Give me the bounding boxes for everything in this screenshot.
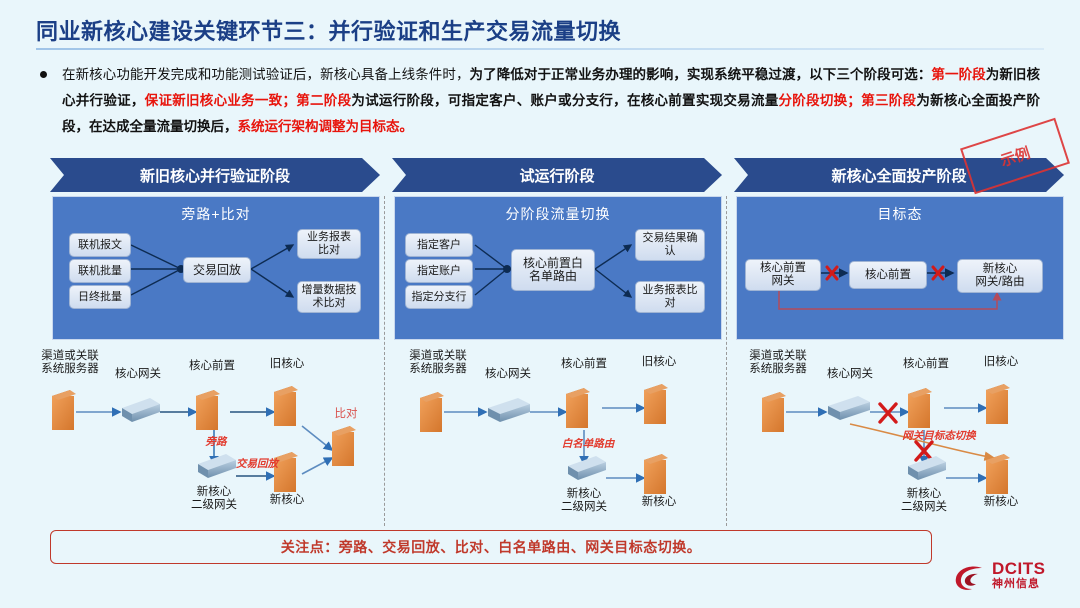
flow1-input-2[interactable]: 联机批量 xyxy=(69,259,131,283)
flow-panel-3: 目标态 核心前置 网关 核心前置 新核心 网关/路由 xyxy=(736,196,1064,340)
topo1-label-source: 渠道或关联 系统服务器 xyxy=(30,350,110,376)
bullet-seg-red-phase2: 第二阶段 xyxy=(296,93,351,108)
topo2-label-oldcore: 旧核心 xyxy=(628,356,690,369)
logo-main: DCITS xyxy=(992,560,1046,578)
topo3-edge-gateway-switch: 网关目标态切换 xyxy=(884,430,994,443)
footnote-box: 关注点：旁路、交易回放、比对、白名单路由、网关目标态切换。 xyxy=(50,530,932,564)
flow1-output-1[interactable]: 业务报表 比对 xyxy=(297,229,361,259)
flow-panel-3-title: 目标态 xyxy=(737,197,1063,224)
topo3-label-oldcore: 旧核心 xyxy=(970,356,1032,369)
topology-1: 渠道或关联 系统服务器 核心网关 核心前置 旧核心 新核心 二级网关 新核心 比… xyxy=(24,346,380,528)
topo2-label-newgw: 新核心 二级网关 xyxy=(544,488,624,514)
flow-panel-1: 旁路+比对 联机报文 联机批量 日终批量 交易回放 业务报表 比对 增量数据技 … xyxy=(52,196,380,340)
flow1-input-3[interactable]: 日终批量 xyxy=(69,285,131,309)
title-divider xyxy=(36,48,1044,50)
bullet-seg-red-consistency: 保证新旧核心业务一致； xyxy=(145,93,296,108)
flow-panel-2: 分阶段流量切换 指定客户 指定账户 指定分支行 核心前置白 名单路由 交易结果确… xyxy=(394,196,722,340)
topo2-label-front: 核心前置 xyxy=(548,358,620,371)
topo1-edge-bypass: 旁路 xyxy=(196,436,236,449)
phase-banner-1[interactable]: 新旧核心并行验证阶段 xyxy=(50,158,380,192)
bullet-seg-bold: 为了降低对于正常业务办理的影响，实现系统平稳过渡，以下三个阶段可选： xyxy=(470,67,932,82)
flow-panel-1-title: 旁路+比对 xyxy=(53,197,379,224)
topo3-label-newgw: 新核心 二级网关 xyxy=(884,488,964,514)
bullet-dot-icon xyxy=(40,71,47,78)
panel-separator-2 xyxy=(726,196,727,526)
company-logo: DCITS 神州信息 xyxy=(952,558,1072,602)
topo3-label-newcore: 新核心 xyxy=(970,496,1032,509)
topology-2: 渠道或关联 系统服务器 核心网关 核心前置 旧核心 新核心 二级网关 新核心 白… xyxy=(390,346,726,528)
flow2-input-3[interactable]: 指定分支行 xyxy=(405,285,473,309)
page-title: 同业新核心建设关键环节三：并行验证和生产交易流量切换 xyxy=(36,14,621,46)
topo3-label-front: 核心前置 xyxy=(890,358,962,371)
bullet-text: 在新核心功能开发完成和功能测试验证后，新核心具备上线条件时，为了降低对于正常业务… xyxy=(62,62,1040,140)
bullet-seg-red-phase1: 第一阶段 xyxy=(931,67,985,82)
flow2-output-1[interactable]: 交易结果确 认 xyxy=(635,229,705,261)
topo1-label-newcore: 新核心 xyxy=(256,494,318,507)
dcits-swirl-icon xyxy=(952,562,988,594)
bullet-paragraph: 在新核心功能开发完成和功能测试验证后，新核心具备上线条件时，为了降低对于正常业务… xyxy=(36,62,1040,140)
bullet-seg-red-staged: 分阶段切换； xyxy=(779,93,861,108)
topo2-label-newcore: 新核心 xyxy=(628,496,690,509)
topo1-label-gateway: 核心网关 xyxy=(106,368,170,381)
bullet-seg-red-phase3: 第三阶段 xyxy=(861,93,916,108)
panel-separator-1 xyxy=(384,196,385,526)
logo-sub: 神州信息 xyxy=(992,578,1046,591)
bullet-seg-red-target: 系统运行架构调整为目标态。 xyxy=(238,119,414,134)
flow2-input-1[interactable]: 指定客户 xyxy=(405,233,473,257)
topo1-label-oldcore: 旧核心 xyxy=(256,358,318,371)
flow3-chain-1[interactable]: 核心前置 网关 xyxy=(745,259,821,291)
topo1-label-newgw: 新核心 二级网关 xyxy=(174,486,254,512)
bullet-seg-plain: 在新核心功能开发完成和功能测试验证后，新核心具备上线条件时， xyxy=(62,67,470,82)
topo1-label-compare: 比对 xyxy=(322,408,370,421)
flow1-center[interactable]: 交易回放 xyxy=(183,257,251,283)
topo2-edge-whitelist: 白名单路由 xyxy=(550,438,626,451)
flow3-chain-2[interactable]: 核心前置 xyxy=(849,261,927,289)
slide-root: 同业新核心建设关键环节三：并行验证和生产交易流量切换 在新核心功能开发完成和功能… xyxy=(0,0,1080,608)
flow1-input-1[interactable]: 联机报文 xyxy=(69,233,131,257)
logo-text: DCITS 神州信息 xyxy=(992,560,1046,591)
flow1-output-2[interactable]: 增量数据技 术比对 xyxy=(297,281,361,313)
topo1-edge-replay: 交易回放 xyxy=(230,458,284,471)
topo3-label-source: 渠道或关联 系统服务器 xyxy=(738,350,818,376)
flow-panel-2-title: 分阶段流量切换 xyxy=(395,197,721,224)
topo2-label-gateway: 核心网关 xyxy=(476,368,540,381)
flow2-center[interactable]: 核心前置白 名单路由 xyxy=(511,249,595,291)
topology-3: 渠道或关联 系统服务器 核心网关 核心前置 旧核心 新核心 二级网关 新核心 网… xyxy=(732,346,1068,528)
topo2-label-source: 渠道或关联 系统服务器 xyxy=(398,350,478,376)
topo1-label-front: 核心前置 xyxy=(176,360,248,373)
bullet-seg-bold-3: 为试运行阶段，可指定客户、账户或分支行，在核心前置实现交易流量 xyxy=(351,93,778,108)
flow3-chain-3[interactable]: 新核心 网关/路由 xyxy=(957,259,1043,293)
topo3-label-gateway: 核心网关 xyxy=(818,368,882,381)
flow2-input-2[interactable]: 指定账户 xyxy=(405,259,473,283)
flow2-output-2[interactable]: 业务报表比 对 xyxy=(635,281,705,313)
phase-banner-2[interactable]: 试运行阶段 xyxy=(392,158,722,192)
